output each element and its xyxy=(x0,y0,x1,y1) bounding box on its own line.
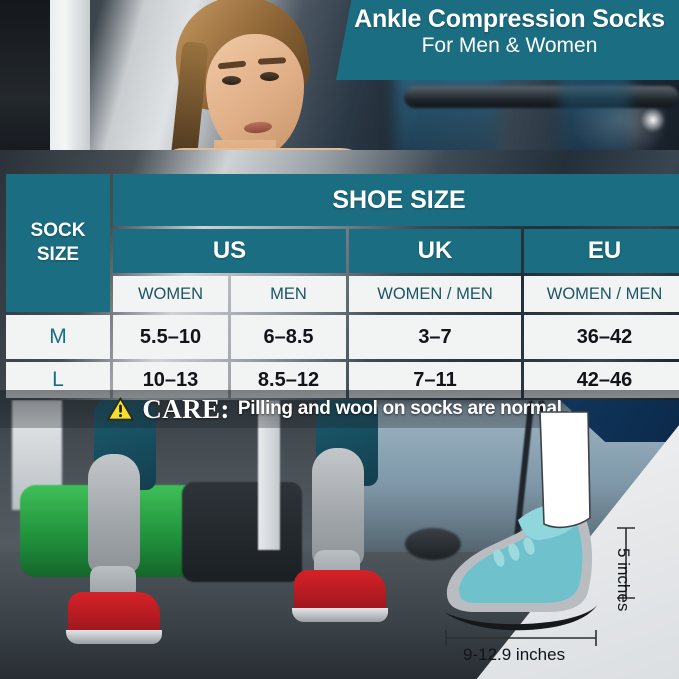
column-header-uk: WOMEN / MEN xyxy=(349,276,521,312)
sneaker-sole-right xyxy=(292,608,388,622)
product-title: Ankle Compression Socks xyxy=(336,0,679,33)
sock-leg xyxy=(540,412,590,527)
title-banner: Ankle Compression Socks For Men & Women xyxy=(336,0,679,80)
cell-m-us-men: 6–8.5 xyxy=(231,315,346,359)
height-dimension-label: 5 inches xyxy=(613,548,633,611)
cell-m-us-women: 5.5–10 xyxy=(113,315,228,359)
cell-m-uk: 3–7 xyxy=(349,315,521,359)
model-eye-right xyxy=(260,72,279,81)
compression-sleeve-left xyxy=(88,454,140,574)
photo-light-flare xyxy=(640,108,666,132)
sock-size-header-line2: SIZE xyxy=(37,243,79,267)
sock-size-header: SOCK SIZE xyxy=(6,174,110,312)
region-header-eu: EU xyxy=(524,229,679,273)
sock-measurement-diagram xyxy=(398,400,679,679)
warning-triangle-icon xyxy=(107,397,134,421)
product-subtitle: For Men & Women xyxy=(336,33,679,58)
photo-barbell xyxy=(404,86,679,108)
size-chart-image: Ankle Compression Socks For Men & Women … xyxy=(0,0,679,679)
photo-dark-bag xyxy=(182,482,302,582)
shoe-size-header: SHOE SIZE xyxy=(113,174,679,226)
care-keyword: CARE: xyxy=(142,394,230,425)
sock-size-header-line1: SOCK xyxy=(31,219,86,243)
cell-m-eu: 36–42 xyxy=(524,315,679,359)
row-size-label-m: M xyxy=(6,315,110,359)
column-header-us-men: MEN xyxy=(231,276,346,312)
size-chart-table: SOCK SIZE SHOE SIZE US UK EU WOMEN MEN W… xyxy=(6,174,673,386)
region-header-uk: UK xyxy=(349,229,521,273)
model-eye-left xyxy=(222,76,241,85)
length-dimension-label: 9-12.9 inches xyxy=(463,645,565,665)
length-dimension-line xyxy=(446,630,596,646)
column-header-us-women: WOMEN xyxy=(113,276,228,312)
region-header-us: US xyxy=(113,229,346,273)
column-header-eu: WOMEN / MEN xyxy=(524,276,679,312)
sneaker-sole-left xyxy=(66,630,162,644)
